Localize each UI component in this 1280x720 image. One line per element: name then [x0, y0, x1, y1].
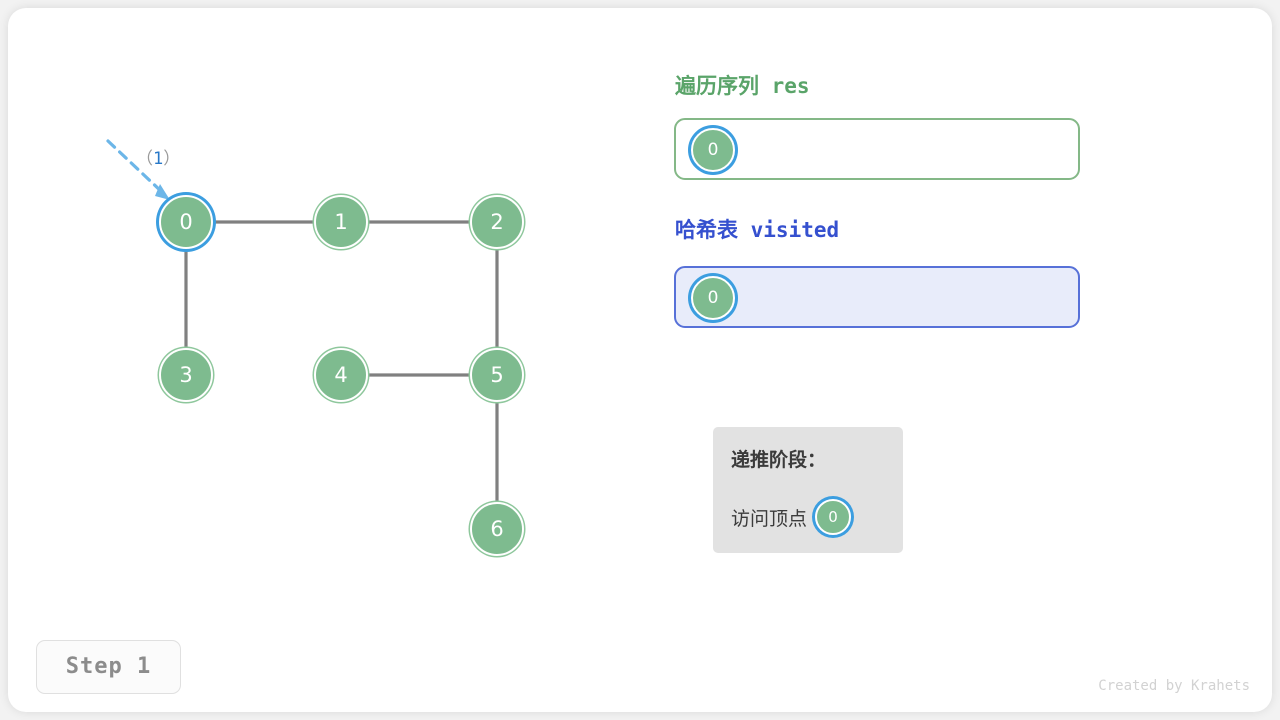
visited-container: 0	[674, 266, 1080, 328]
res-title: 遍历序列 res	[675, 70, 810, 100]
arrow-label-number: 1	[153, 149, 163, 169]
graph-node-5[interactable]: 5	[470, 348, 524, 402]
graph-node-1[interactable]: 1	[314, 195, 368, 249]
graph-node-3[interactable]: 3	[159, 348, 213, 402]
step-badge: Step 1	[36, 640, 181, 694]
credit-text: Created by Krahets	[1098, 678, 1250, 694]
phase-action-line: 访问顶点 0	[731, 499, 851, 535]
arrow-label-close: ）	[163, 149, 180, 169]
res-item-0[interactable]: 0	[691, 128, 735, 172]
res-container: 0	[674, 118, 1080, 180]
state-panel: 遍历序列 res 0 哈希表 visited 0 递推阶段： 访问顶点 0	[668, 8, 1272, 712]
phase-info-panel: 递推阶段： 访问顶点 0	[713, 427, 903, 553]
graph-node-0[interactable]: 0	[159, 195, 213, 249]
slide-canvas: （1） 0 1 2 3 4 5 6 遍历序列 res 0 哈希表 visited…	[8, 8, 1272, 712]
graph-diagram: （1） 0 1 2 3 4 5 6	[8, 8, 648, 712]
graph-node-6[interactable]: 6	[470, 502, 524, 556]
phase-node-badge: 0	[815, 499, 851, 535]
arrow-step-label: （1）	[136, 144, 180, 169]
visited-title: 哈希表 visited	[675, 214, 839, 244]
graph-node-4[interactable]: 4	[314, 348, 368, 402]
graph-node-2[interactable]: 2	[470, 195, 524, 249]
arrow-label-open: （	[136, 149, 153, 169]
phase-heading: 递推阶段：	[731, 445, 826, 472]
visited-item-0[interactable]: 0	[691, 276, 735, 320]
phase-action-text: 访问顶点	[731, 504, 807, 531]
